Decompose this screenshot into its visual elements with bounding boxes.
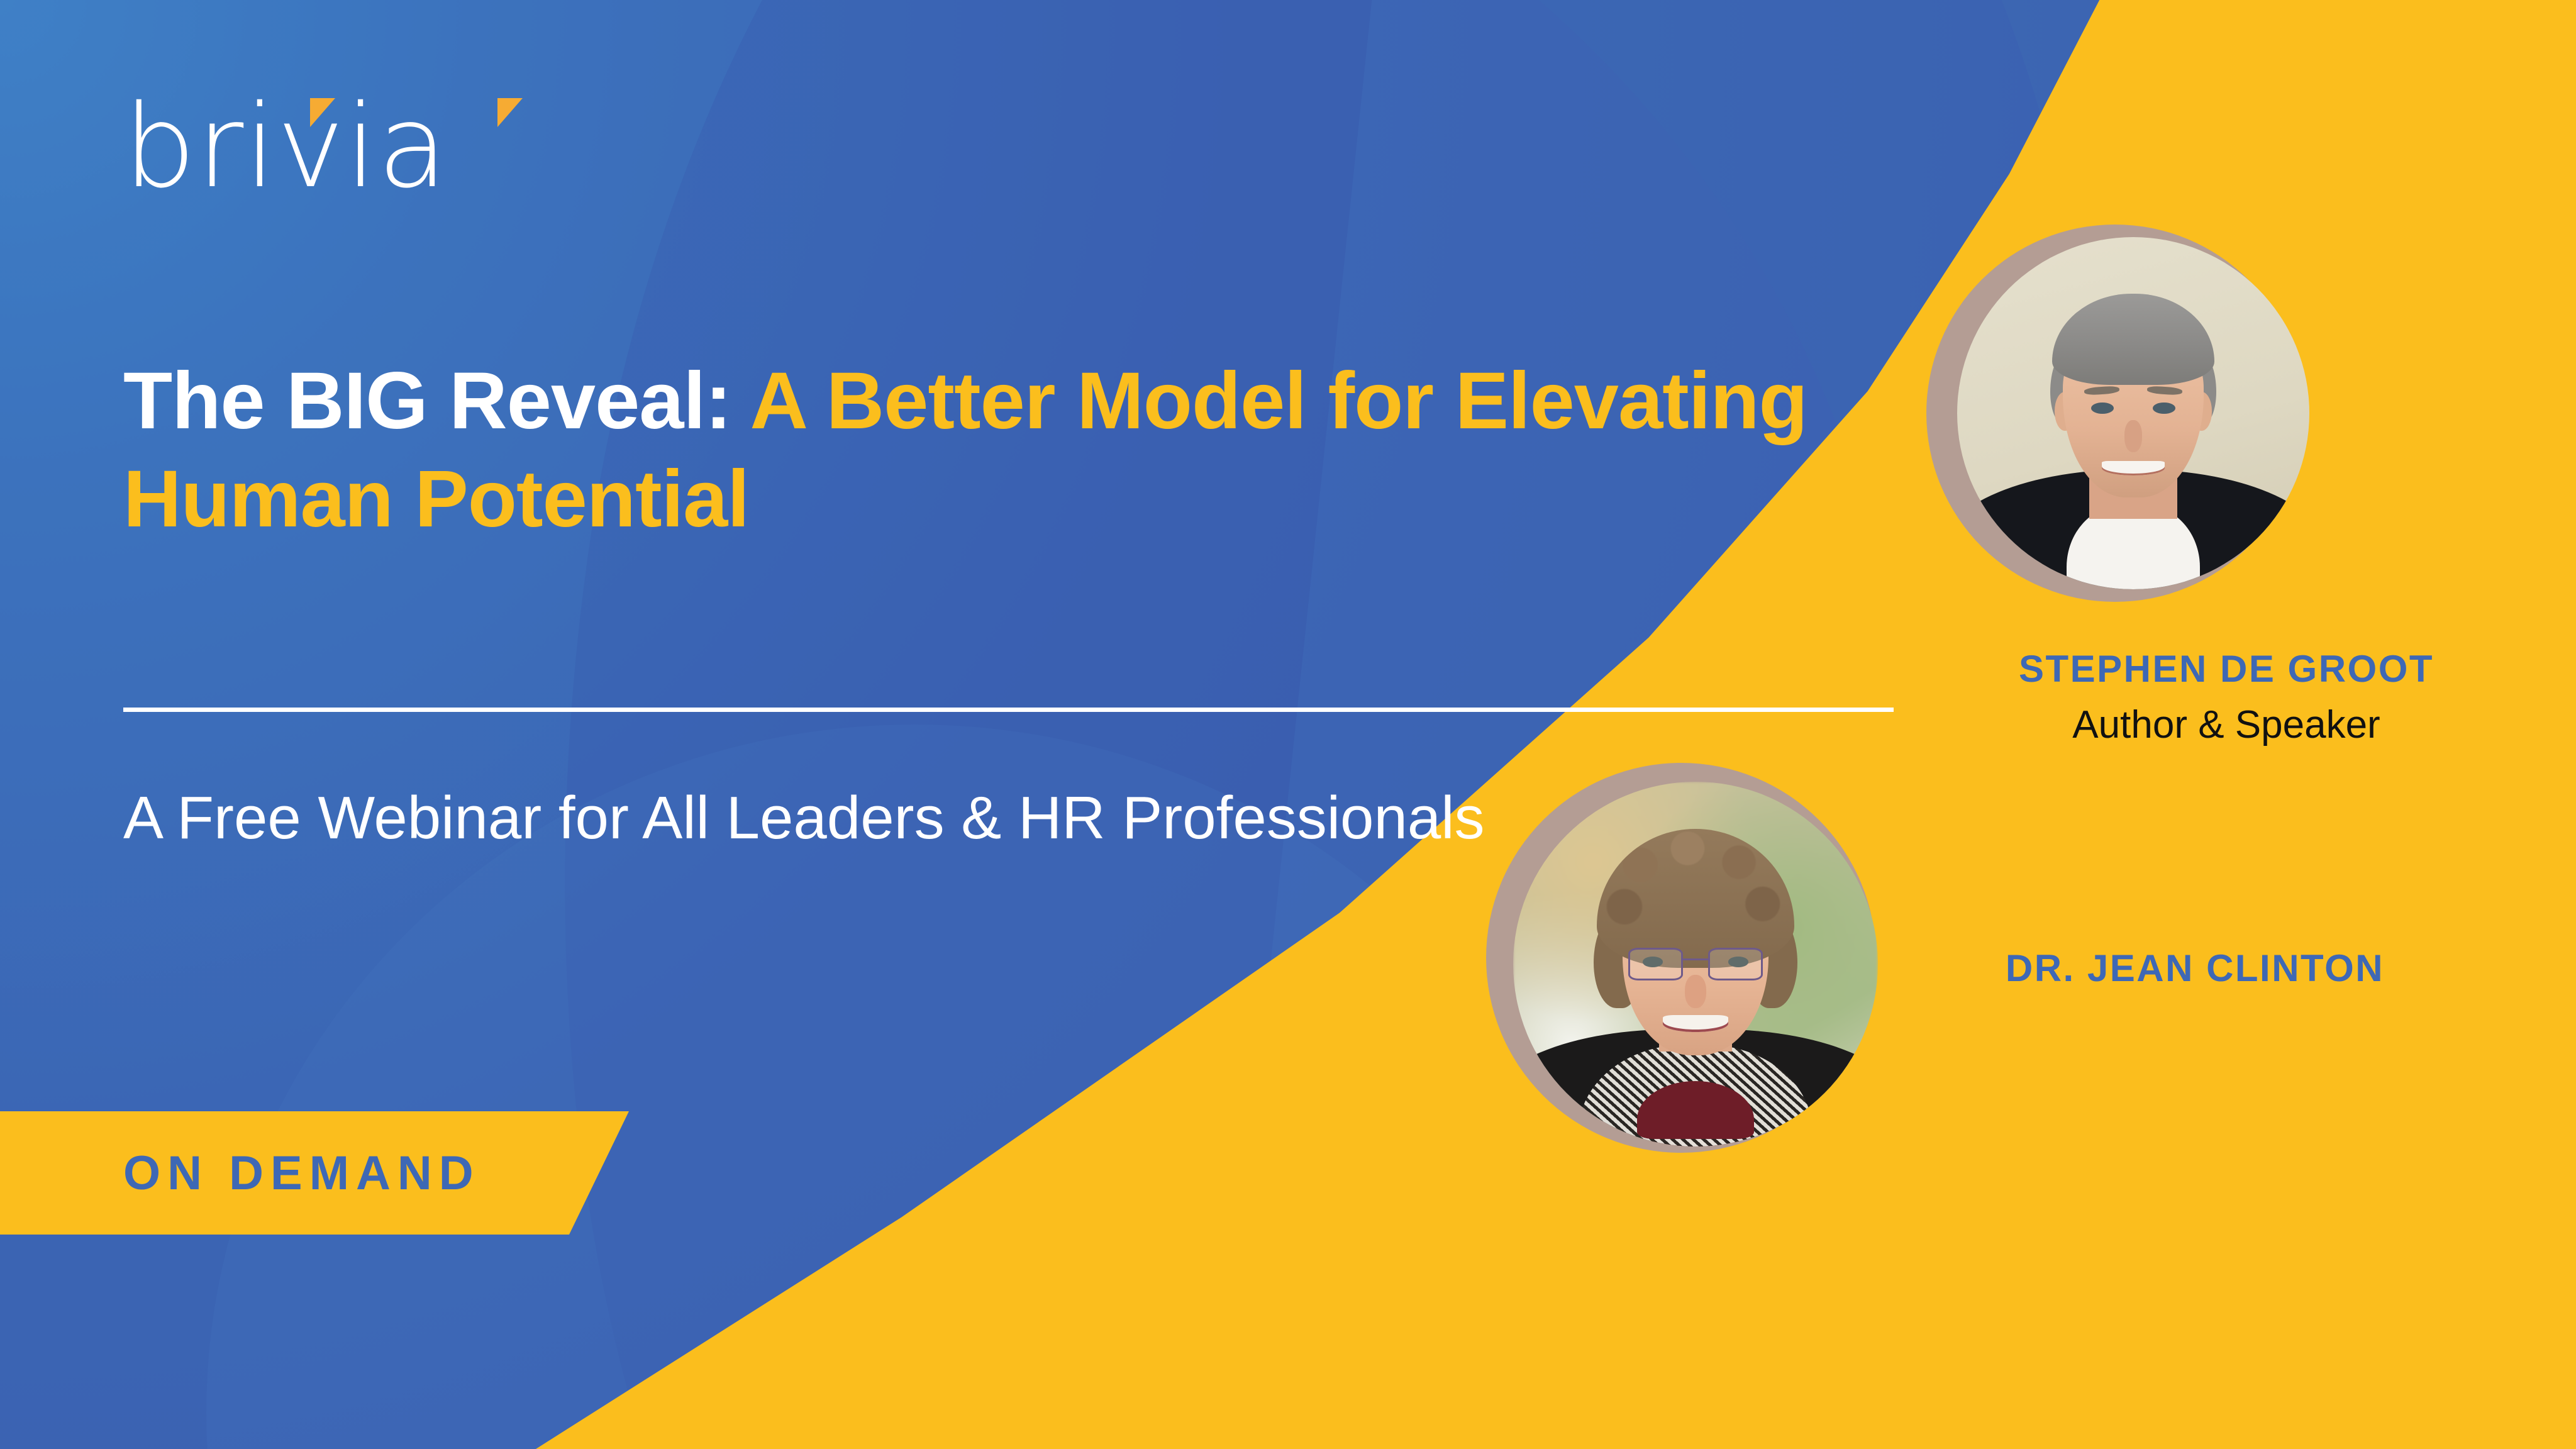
status-badge-label: ON DEMAND — [123, 1146, 480, 1201]
portrait-eye-left — [2091, 402, 2114, 414]
speaker-role-stephen-de-groot: Author & Speaker — [1968, 702, 2484, 747]
page-title: The BIG Reveal: A Better Model for Eleva… — [123, 352, 1909, 548]
page-subtitle: A Free Webinar for All Leaders & HR Prof… — [123, 780, 1570, 857]
portrait-nose — [2124, 420, 2142, 452]
portrait-glasses-bridge — [1683, 958, 1709, 960]
portrait-nose — [1685, 975, 1707, 1008]
portrait-glasses-lens-right — [1708, 948, 1763, 980]
avatar-stephen-de-groot — [1957, 237, 2309, 589]
webinar-promo-banner: brivia The BIG Reveal: A Better Model fo… — [0, 0, 2576, 1449]
logo-accent-triangle-icon — [497, 98, 523, 127]
portrait-glasses-lens-left — [1628, 948, 1683, 980]
portrait-mouth — [1663, 1015, 1728, 1032]
logo-accent-triangle-icon — [310, 98, 335, 127]
avatar-dr-jean-clinton — [1513, 782, 1878, 1146]
status-badge[interactable]: ON DEMAND — [0, 1111, 629, 1235]
brivia-logo-text: brivia — [123, 89, 448, 204]
speaker-name-dr-jean-clinton: DR. JEAN CLINTON — [1937, 947, 2453, 990]
divider-rule — [123, 708, 1894, 712]
brivia-logo[interactable]: brivia — [123, 89, 448, 190]
speaker-name-stephen-de-groot: STEPHEN DE GROOT — [1968, 647, 2484, 691]
portrait-mouth — [2102, 461, 2165, 476]
headline-primary: The BIG Reveal: — [123, 356, 750, 446]
